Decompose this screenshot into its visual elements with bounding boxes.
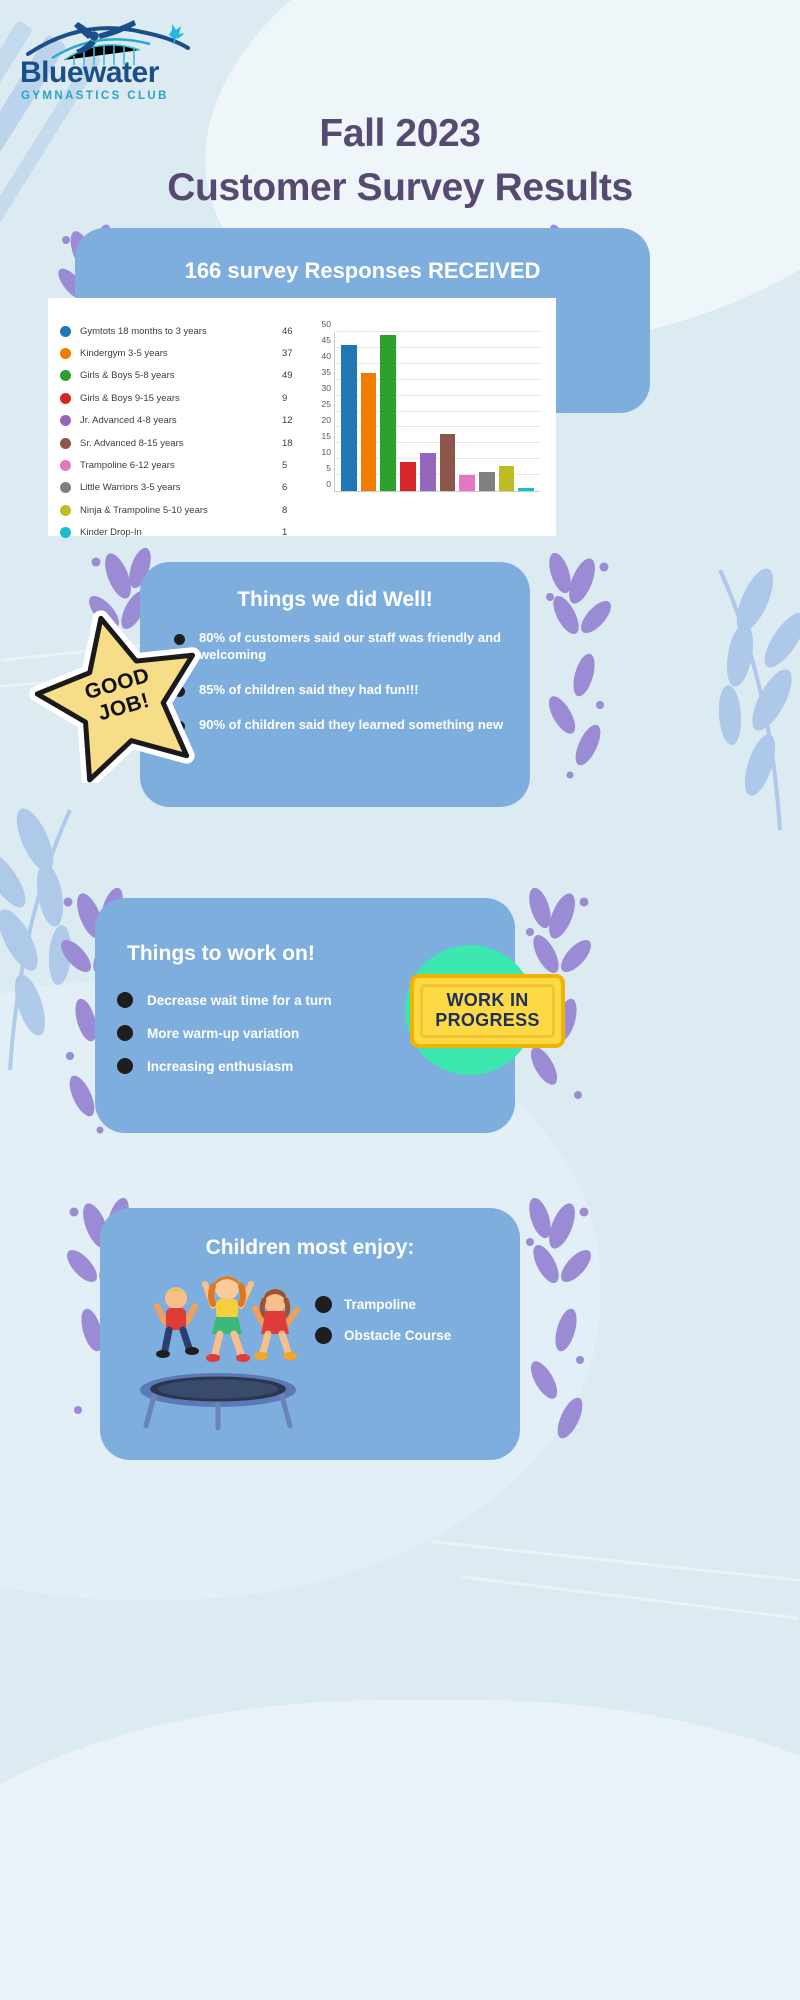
legend-value: 49 [282, 370, 312, 381]
y-axis-tick-label: 30 [322, 383, 331, 392]
legend-color-swatch [60, 348, 71, 359]
legend-color-swatch [60, 370, 71, 381]
chart-bars [337, 332, 538, 491]
background-line [431, 1540, 800, 1583]
y-axis-tick-label: 0 [326, 479, 331, 488]
chart-bar [518, 488, 534, 491]
things-to-work-on-bullet-text: Increasing enthusiasm [147, 1059, 293, 1074]
chart-bar [420, 453, 436, 491]
gymnast-bridge-logo-icon [22, 14, 202, 66]
sprig-decoration [520, 1190, 600, 1470]
work-in-progress-line-1: WORK IN [446, 991, 528, 1011]
legend-label: Sr. Advanced 8-15 years [80, 438, 282, 449]
things-done-well-heading: Things we did Well! [140, 562, 530, 612]
bar-chart: 05101520253035404550 [312, 312, 546, 526]
chart-bar [499, 466, 515, 491]
y-axis-tick-label: 40 [322, 351, 331, 360]
bullet-dot-icon [315, 1327, 332, 1344]
legend-label: Trampoline 6-12 years [80, 460, 282, 471]
sprig-decoration [540, 545, 620, 805]
legend-value: 5 [282, 460, 312, 471]
work-in-progress-inner: WORK IN PROGRESS [420, 984, 555, 1038]
things-done-well-bullet-item: 80% of customers said our staff was frie… [174, 630, 508, 664]
children-most-enjoy-bullet-item: Trampoline [315, 1296, 451, 1313]
infographic-page: Bluewater GYMNASTICS CLUB Fall 2023 Cust… [0, 0, 800, 2000]
legend-row: Ninja & Trampoline 5-10 years8 [60, 499, 312, 521]
things-to-work-on-bullet-text: More warm-up variation [147, 1026, 299, 1041]
y-axis-tick-label: 25 [322, 399, 331, 408]
legend-value: 9 [282, 393, 312, 404]
work-in-progress-plate: WORK IN PROGRESS [410, 974, 565, 1048]
work-in-progress-line-2: PROGRESS [435, 1011, 539, 1031]
legend-value: 46 [282, 326, 312, 337]
children-most-enjoy-heading: Children most enjoy: [100, 1208, 520, 1260]
legend-row: Kinder Drop-In1 [60, 522, 312, 544]
y-axis-tick-label: 35 [322, 367, 331, 376]
good-job-badge: GOOD JOB! [28, 608, 213, 783]
things-to-work-on-bullet-text: Decrease wait time for a turn [147, 993, 332, 1008]
legend-row: Little Warriors 3-5 years6 [60, 477, 312, 499]
legend-label: Gymtots 18 months to 3 years [80, 326, 282, 337]
legend-value: 6 [282, 482, 312, 493]
chart-bar [400, 462, 416, 491]
legend-value: 37 [282, 348, 312, 359]
legend-label: Kindergym 3-5 years [80, 348, 282, 359]
legend-color-swatch [60, 393, 71, 404]
legend-value: 8 [282, 505, 312, 516]
legend-value: 1 [282, 527, 312, 538]
legend-row: Jr. Advanced 4-8 years12 [60, 410, 312, 432]
chart-bar [459, 475, 475, 491]
legend-label: Ninja & Trampoline 5-10 years [80, 505, 282, 516]
legend-color-swatch [60, 482, 71, 493]
legend-color-swatch [60, 415, 71, 426]
bullet-dot-icon [117, 992, 133, 1008]
legend-color-swatch [60, 527, 71, 538]
survey-heading: 166 survey Responses RECEIVED [75, 228, 650, 284]
legend-row: Girls & Boys 5-8 years49 [60, 365, 312, 387]
things-done-well-bullet-text: 80% of customers said our staff was frie… [199, 630, 508, 664]
background-wave-bottom [0, 1700, 800, 2000]
y-axis-tick-label: 5 [326, 463, 331, 472]
children-most-enjoy-bullet-item: Obstacle Course [315, 1327, 451, 1344]
legend-label: Girls & Boys 9-15 years [80, 393, 282, 404]
bullet-dot-icon [315, 1296, 332, 1313]
chart-bar [479, 472, 495, 491]
chart-plot-area [334, 332, 540, 492]
leaf-decoration-right [660, 560, 800, 860]
work-in-progress-badge: WORK IN PROGRESS [400, 940, 570, 1080]
y-axis-tick-label: 20 [322, 415, 331, 424]
survey-chart-card: Gymtots 18 months to 3 years46Kindergym … [48, 298, 556, 536]
title-line-1: Fall 2023 [0, 112, 800, 156]
brand-tagline: GYMNASTICS CLUB [21, 90, 214, 102]
legend-label: Girls & Boys 5-8 years [80, 370, 282, 381]
legend-color-swatch [60, 326, 71, 337]
things-done-well-bullet-text: 85% of children said they had fun!!! [199, 682, 419, 699]
page-title: Fall 2023 Customer Survey Results [0, 112, 800, 210]
children-most-enjoy-bullet-text: Obstacle Course [344, 1328, 451, 1343]
things-done-well-bullet-text: 90% of children said they learned someth… [199, 717, 503, 734]
things-done-well-bullet-item: 85% of children said they had fun!!! [174, 682, 508, 699]
legend-row: Gymtots 18 months to 3 years46 [60, 320, 312, 342]
chart-bar [440, 434, 456, 491]
legend-row: Kindergym 3-5 years37 [60, 342, 312, 364]
legend-label: Kinder Drop-In [80, 527, 282, 538]
background-line [461, 1575, 799, 1619]
legend-row: Girls & Boys 9-15 years9 [60, 387, 312, 409]
legend-value: 18 [282, 438, 312, 449]
chart-bar [341, 345, 357, 491]
y-axis-tick-label: 45 [322, 335, 331, 344]
y-axis-tick-label: 50 [322, 319, 331, 328]
legend-color-swatch [60, 460, 71, 471]
bullet-dot-icon [117, 1058, 133, 1074]
chart-bar [380, 335, 396, 491]
y-axis-tick-label: 10 [322, 447, 331, 456]
legend-color-swatch [60, 438, 71, 449]
legend-label: Jr. Advanced 4-8 years [80, 415, 282, 426]
bullet-dot-icon [117, 1025, 133, 1041]
chart-legend: Gymtots 18 months to 3 years46Kindergym … [60, 312, 312, 526]
children-most-enjoy-bullet-text: Trampoline [344, 1297, 416, 1312]
legend-label: Little Warriors 3-5 years [80, 482, 282, 493]
brand-logo: Bluewater GYMNASTICS CLUB [14, 14, 214, 106]
trampoline-icon [128, 1370, 308, 1430]
chart-y-axis: 05101520253035404550 [312, 332, 334, 492]
y-axis-tick-label: 15 [322, 431, 331, 440]
children-most-enjoy-bullet-list: TrampolineObstacle Course [315, 1296, 451, 1358]
legend-value: 12 [282, 415, 312, 426]
title-line-2: Customer Survey Results [0, 166, 800, 210]
chart-bar [361, 373, 377, 491]
jumping-children-icon [135, 1262, 325, 1382]
legend-row: Trampoline 6-12 years5 [60, 454, 312, 476]
legend-row: Sr. Advanced 8-15 years18 [60, 432, 312, 454]
legend-color-swatch [60, 505, 71, 516]
